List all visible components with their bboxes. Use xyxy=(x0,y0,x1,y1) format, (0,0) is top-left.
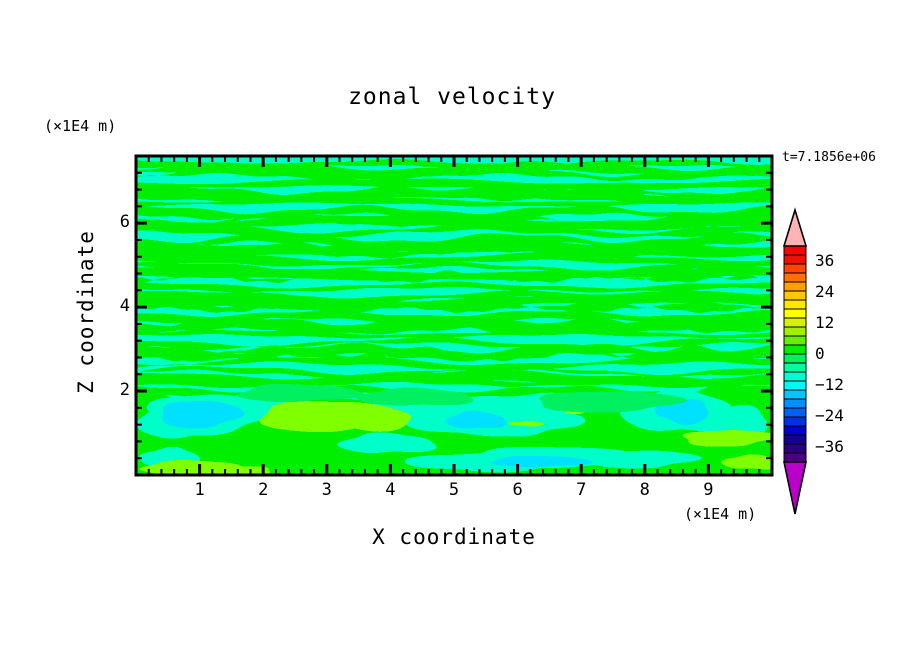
colorbar-tick-label: 0 xyxy=(815,344,825,363)
figure-canvas: zonal velocity (×1E4 m) (×1E4 m) t=7.185… xyxy=(0,0,904,654)
x-tick-label: 3 xyxy=(312,480,342,500)
x-tick-label: 7 xyxy=(566,480,596,500)
x-tick-label: 4 xyxy=(375,480,405,500)
y-tick-label: 4 xyxy=(100,296,130,316)
x-tick-label: 9 xyxy=(693,480,723,500)
x-tick-label: 1 xyxy=(185,480,215,500)
x-tick-label: 6 xyxy=(503,480,533,500)
colorbar-tick-label: 36 xyxy=(815,251,834,270)
colorbar-tick-label: −12 xyxy=(815,375,844,394)
y-tick-label: 6 xyxy=(100,212,130,232)
contour-plot-svg xyxy=(0,0,904,654)
colorbar-tick-label: −24 xyxy=(815,406,844,425)
x-tick-label: 2 xyxy=(248,480,278,500)
contour-field xyxy=(136,156,782,477)
x-tick-label: 5 xyxy=(439,480,469,500)
colorbar xyxy=(784,210,806,514)
x-tick-label: 8 xyxy=(630,480,660,500)
colorbar-tick-label: 12 xyxy=(815,313,834,332)
colorbar-tick-label: −36 xyxy=(815,437,844,456)
y-tick-label: 2 xyxy=(100,380,130,400)
colorbar-tick-label: 24 xyxy=(815,282,834,301)
